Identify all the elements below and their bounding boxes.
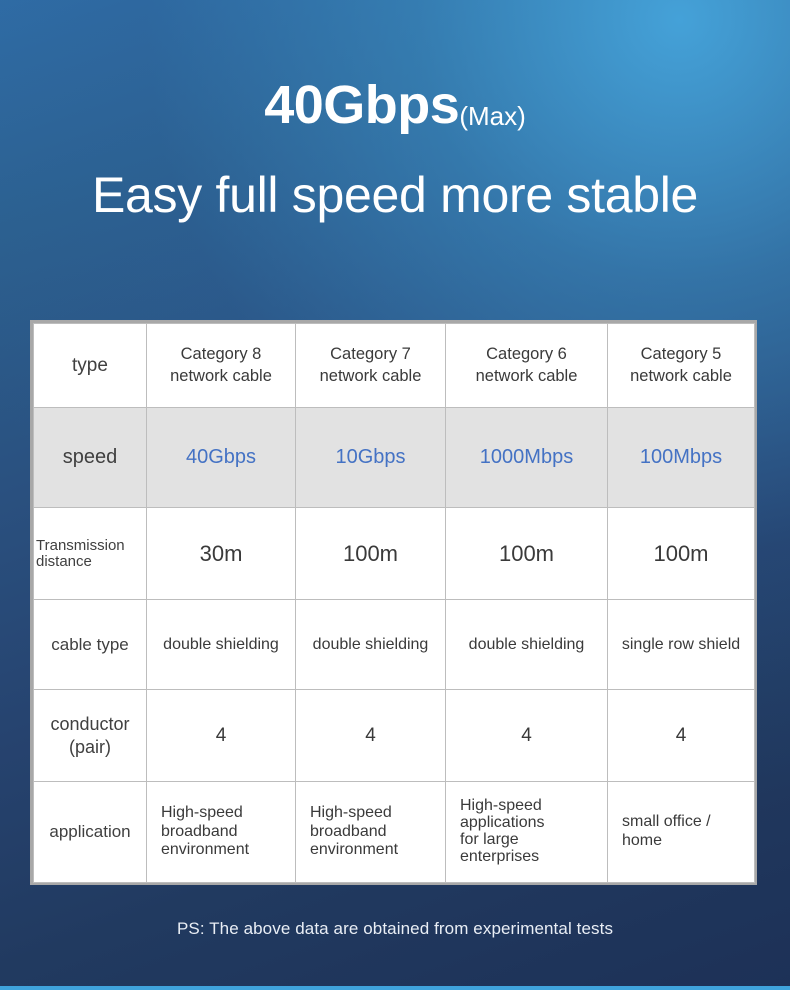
header-cat7-line1: Category 7 (330, 345, 411, 363)
table-row-conductor-pair: conductor (pair) 4 4 4 4 (34, 690, 755, 782)
header-cat6-line2: network cable (476, 367, 578, 385)
conductor-cat6: 4 (446, 690, 608, 782)
row-label-cond-line2: (pair) (69, 737, 111, 757)
cable-type-cat7: double shielding (296, 600, 446, 690)
table-row-cable-type: cable type double shielding double shiel… (34, 600, 755, 690)
spec-table-container: type Category 8 network cable Category 7… (30, 320, 757, 885)
cable-type-cat5: single row shield (608, 600, 755, 690)
row-label-cable-type: cable type (34, 600, 147, 690)
row-label-cond-line1: conductor (50, 714, 129, 734)
distance-cat7: 100m (296, 508, 446, 600)
distance-cat5: 100m (608, 508, 755, 600)
application-cat8: High-speed broadband environment (147, 782, 296, 883)
footnote-text: PS: The above data are obtained from exp… (0, 919, 790, 939)
table-row-transmission-distance: Transmission distance 30m 100m 100m 100m (34, 508, 755, 600)
application-cat7-line1: High-speed (310, 804, 392, 821)
header-cat8-line2: network cable (170, 367, 272, 385)
speed-cat6: 1000Mbps (446, 408, 608, 508)
table-row-type: type Category 8 network cable Category 7… (34, 324, 755, 408)
row-label-conductor-pair: conductor (pair) (34, 690, 147, 782)
header-cat8-line1: Category 8 (181, 345, 262, 363)
hero-headline-value: 40Gbps (264, 75, 459, 135)
speed-cat7: 10Gbps (296, 408, 446, 508)
spec-table: type Category 8 network cable Category 7… (33, 323, 755, 883)
product-spec-banner: 40Gbps(Max) Easy full speed more stable … (0, 0, 790, 990)
header-cell-cat6: Category 6 network cable (446, 324, 608, 408)
hero-headline-suffix: (Max) (459, 101, 525, 131)
application-cat6-line4: enterprises (460, 848, 539, 865)
speed-cat5: 100Mbps (608, 408, 755, 508)
header-cat6-line1: Category 6 (486, 345, 567, 363)
application-cat7: High-speed broadband environment (296, 782, 446, 883)
header-cell-cat7: Category 7 network cable (296, 324, 446, 408)
application-cat7-line3: environment (310, 841, 398, 858)
application-cat5-line1: small office / (622, 813, 711, 830)
application-cat6-line1: High-speed (460, 797, 542, 814)
table-row-speed: speed 40Gbps 10Gbps 1000Mbps 100Mbps (34, 408, 755, 508)
speed-cat8: 40Gbps (147, 408, 296, 508)
application-cat7-line2: broadband (310, 823, 387, 840)
hero-subheadline: Easy full speed more stable (0, 168, 790, 223)
distance-cat6: 100m (446, 508, 608, 600)
conductor-cat7: 4 (296, 690, 446, 782)
header-cat7-line2: network cable (320, 367, 422, 385)
header-cell-cat8: Category 8 network cable (147, 324, 296, 408)
row-label-speed: speed (34, 408, 147, 508)
row-label-transmission-distance: Transmission distance (34, 508, 147, 600)
application-cat8-line2: broadband (161, 823, 238, 840)
row-label-dist-line2: distance (36, 553, 92, 570)
table-row-application: application High-speed broadband environ… (34, 782, 755, 883)
application-cat6: High-speed applications for large enterp… (446, 782, 608, 883)
application-cat6-line3: for large (460, 831, 519, 848)
conductor-cat8: 4 (147, 690, 296, 782)
distance-cat8: 30m (147, 508, 296, 600)
header-cell-cat5: Category 5 network cable (608, 324, 755, 408)
header-cat5-line1: Category 5 (641, 345, 722, 363)
application-cat5-line2: home (622, 832, 662, 849)
application-cat8-line1: High-speed (161, 804, 243, 821)
row-label-application: application (34, 782, 147, 883)
application-cat5: small office / home (608, 782, 755, 883)
cable-type-cat6: double shielding (446, 600, 608, 690)
hero-headline: 40Gbps(Max) (0, 78, 790, 132)
header-cat5-line2: network cable (630, 367, 732, 385)
conductor-cat5: 4 (608, 690, 755, 782)
cable-type-cat8: double shielding (147, 600, 296, 690)
application-cat6-line2: applications (460, 814, 545, 831)
application-cat8-line3: environment (161, 841, 249, 858)
row-label-type: type (34, 324, 147, 408)
